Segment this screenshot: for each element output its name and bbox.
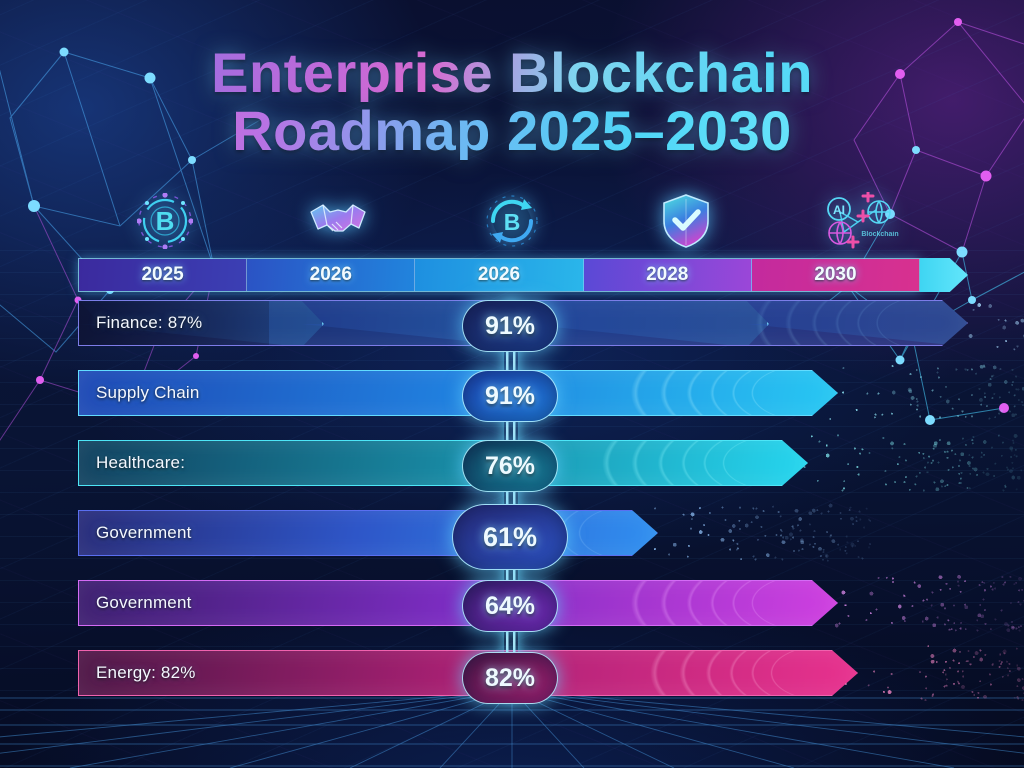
particle-dissolve bbox=[792, 430, 1022, 496]
svg-text:B: B bbox=[155, 206, 174, 236]
svg-text:Blockchain: Blockchain bbox=[861, 231, 898, 238]
milestone-icon-3[interactable] bbox=[599, 190, 773, 252]
progress-badge[interactable]: 76% bbox=[462, 440, 558, 492]
timeline-year-4[interactable]: 2030 bbox=[752, 259, 919, 291]
handshake-icon bbox=[307, 198, 369, 244]
timeline-track: 2025 2026 2026 2028 2030 bbox=[78, 258, 920, 292]
row-bar bbox=[78, 440, 808, 486]
row-label: Healthcare: bbox=[96, 440, 185, 486]
milestone-icon-row: B bbox=[78, 190, 946, 252]
milestone-icon-2[interactable]: B bbox=[425, 190, 599, 252]
particle-dissolve bbox=[822, 360, 1024, 426]
infographic-canvas: Enterprise Blockchain Roadmap 2025–2030 … bbox=[0, 0, 1024, 768]
svg-text:AI: AI bbox=[833, 203, 845, 217]
row-label: Supply Chain bbox=[96, 370, 200, 416]
timeline-arrow-head bbox=[920, 258, 968, 292]
milestone-icon-4[interactable]: AI Blockchain bbox=[772, 190, 946, 252]
bar-arc-texture bbox=[79, 581, 837, 625]
progress-badge[interactable]: 91% bbox=[462, 370, 558, 422]
bitcoin-exchange-icon: B bbox=[484, 193, 540, 249]
roadmap-row[interactable]: Supply Chain bbox=[78, 370, 838, 416]
progress-badge[interactable]: 82% bbox=[462, 652, 558, 704]
timeline-year-2[interactable]: 2026 bbox=[415, 259, 583, 291]
timeline-year-1[interactable]: 2026 bbox=[247, 259, 415, 291]
bitcoin-network-icon: B bbox=[137, 193, 193, 249]
ai-blockchain-icon: AI Blockchain bbox=[818, 192, 900, 250]
roadmap-row[interactable]: Government bbox=[78, 510, 658, 556]
title-line-1: Enterprise Blockchain bbox=[0, 44, 1024, 102]
shield-check-icon bbox=[661, 193, 711, 249]
progress-badge[interactable]: 91% bbox=[462, 300, 558, 352]
row-label: Energy: 82% bbox=[96, 650, 196, 696]
roadmap-row[interactable]: Healthcare: bbox=[78, 440, 808, 486]
title-line-2: Roadmap 2025–2030 bbox=[0, 102, 1024, 160]
timeline-axis: 2025 2026 2026 2028 2030 bbox=[78, 258, 968, 292]
particle-dissolve bbox=[642, 500, 872, 566]
row-label: Government bbox=[96, 580, 192, 626]
milestone-icon-1[interactable] bbox=[252, 190, 426, 252]
vertical-connector-spine bbox=[504, 300, 518, 700]
page-title: Enterprise Blockchain Roadmap 2025–2030 bbox=[0, 44, 1024, 160]
progress-badge[interactable]: 64% bbox=[462, 580, 558, 632]
row-label: Finance: 87% bbox=[96, 300, 202, 346]
row-label: Government bbox=[96, 510, 192, 556]
bar-arc-texture bbox=[79, 441, 807, 485]
row-bar bbox=[78, 580, 838, 626]
timeline-year-3[interactable]: 2028 bbox=[584, 259, 752, 291]
progress-badge[interactable]: 61% bbox=[452, 504, 568, 570]
timeline-year-0[interactable]: 2025 bbox=[79, 259, 247, 291]
roadmap-row[interactable]: Government bbox=[78, 580, 838, 626]
milestone-icon-0[interactable]: B bbox=[78, 190, 252, 252]
particle-dissolve bbox=[822, 570, 1024, 636]
particle-dissolve bbox=[842, 640, 1024, 706]
svg-text:B: B bbox=[504, 209, 521, 235]
